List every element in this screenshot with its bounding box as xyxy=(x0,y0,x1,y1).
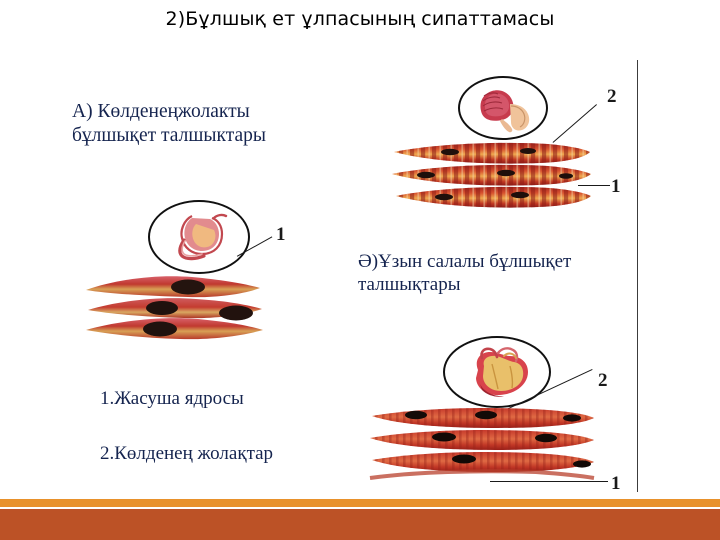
caption-section-e: Ә)Ұзын салалы бұлшықет талшықтары xyxy=(358,250,638,296)
stomach-icon xyxy=(162,210,240,266)
footer-accent-stripe xyxy=(0,499,720,507)
callout-number-b2: 2 xyxy=(607,86,617,108)
callout-number-a1: 1 xyxy=(276,224,286,246)
callout-number-b1: 1 xyxy=(611,176,621,198)
cardiac-muscle-tissue-image xyxy=(368,404,596,488)
smooth-muscle-tissue-image xyxy=(84,268,264,350)
footer-bar xyxy=(0,509,720,540)
page-title: 2)Бұлшық ет ұлпасының сипаттамасы xyxy=(0,8,720,30)
caption-section-a: А) Көлденеңжолакты бұлшықет талшыктары xyxy=(72,100,342,148)
heart-icon xyxy=(458,344,540,402)
callout-number-e2: 2 xyxy=(598,370,608,392)
leader-line-e1 xyxy=(490,481,608,482)
slide-canvas: 2)Бұлшық ет ұлпасының сипаттамасы А) Көл… xyxy=(0,0,720,540)
leader-line-b1 xyxy=(578,185,610,186)
flexed-arm-icon xyxy=(470,84,538,134)
striated-muscle-tissue-image xyxy=(388,138,596,214)
callout-number-e1: 1 xyxy=(611,473,621,495)
legend-item-2: 2.Көлденең жолақтар xyxy=(100,443,273,465)
legend-item-1: 1.Жасуша ядросы xyxy=(100,388,244,410)
